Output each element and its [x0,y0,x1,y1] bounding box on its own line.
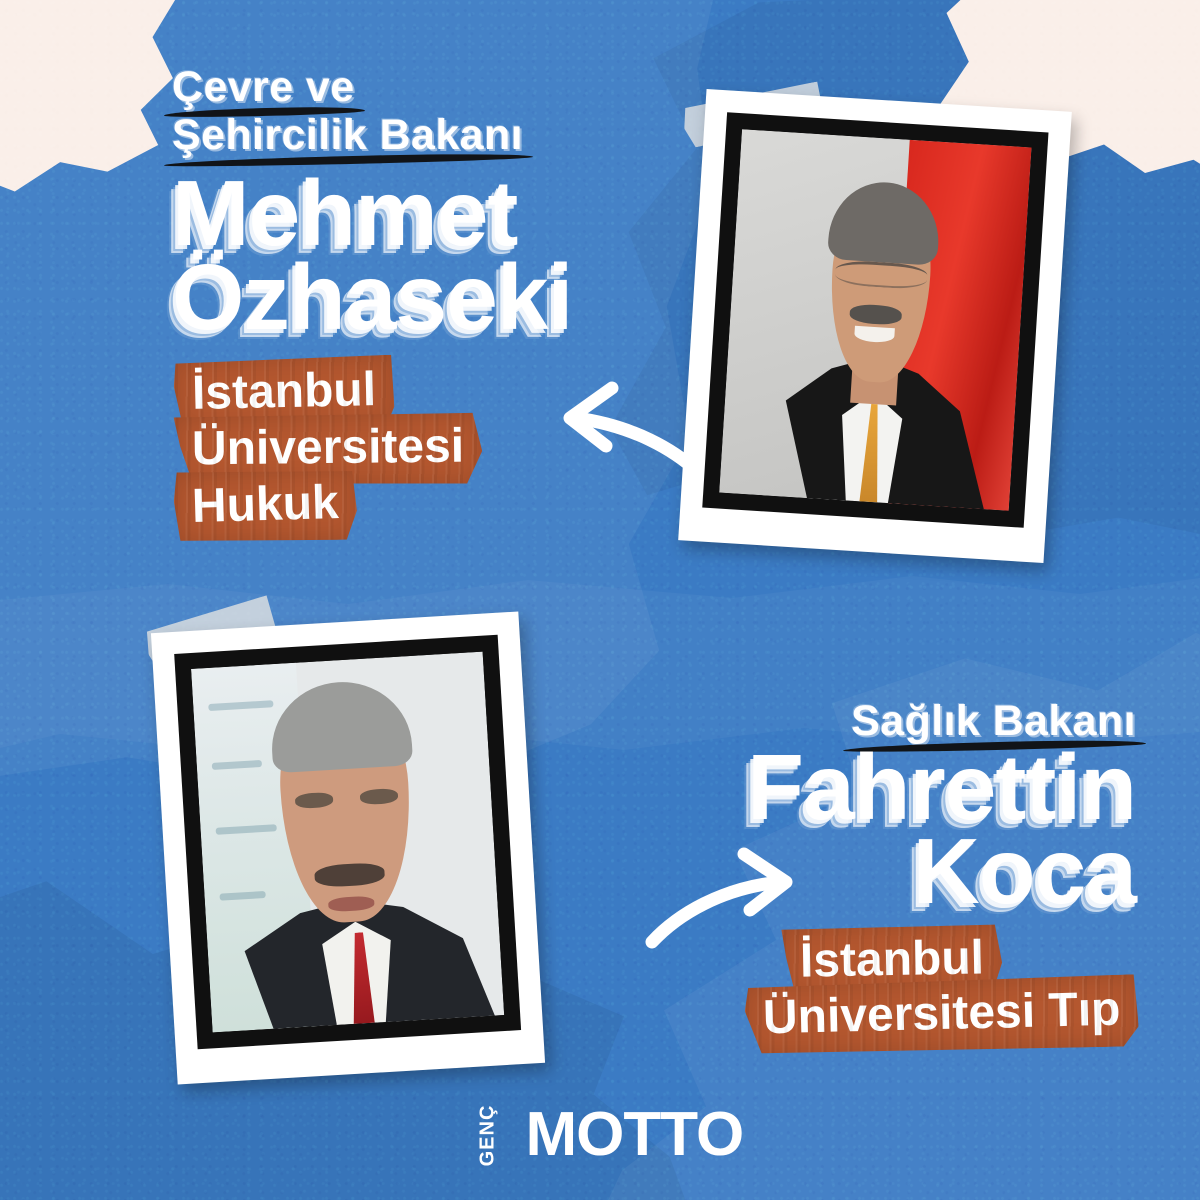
arrow-left-icon [534,372,704,480]
chip-top-3: Hukuk [173,467,358,544]
photo-frame-koca [151,611,545,1084]
name-bottom-line2: Koca [913,826,1136,916]
photo-frame-inner-top [702,112,1048,527]
poster-canvas: Çevre ve Şehircilik Bakanı Mehmet Özhase… [0,0,1200,1200]
name-top-line2: Özhaseki [172,252,572,342]
photo-frame-ozhaseki [678,89,1072,563]
brand-logo: GENÇ MOTTO [0,1104,1200,1166]
kicker-top-line2: Şehircilik Bakanı [172,114,523,158]
kicker-top-line2-text: Şehircilik Bakanı [172,114,523,158]
chip-bottom-2: Üniversitesi Tıp [744,974,1139,1056]
photo-frame-inner-bottom [174,635,521,1050]
kicker-top-line1: Çevre ve [172,66,355,110]
portrait-ozhaseki [719,129,1031,510]
logo-word: MOTTO [526,1104,744,1166]
logo-prefix: GENÇ [476,1104,499,1166]
kicker-top-line1-text: Çevre ve [172,66,355,110]
arrow-right-icon [640,842,810,950]
portrait-koca [191,652,504,1033]
logo-word-text: MOTTO [526,1104,744,1166]
